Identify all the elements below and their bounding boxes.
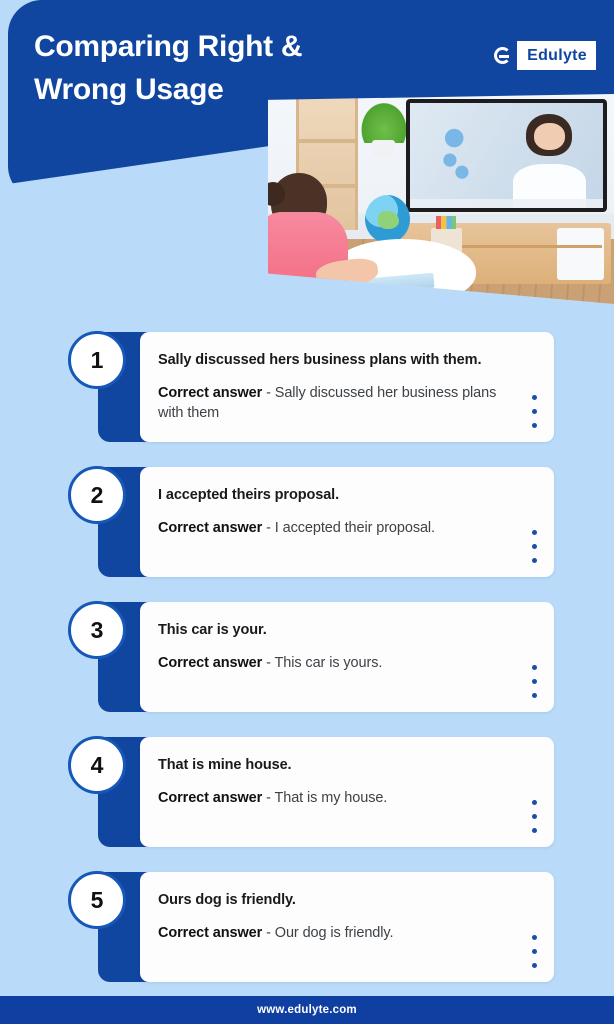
e-logo-glyph xyxy=(494,47,511,64)
dot xyxy=(532,679,537,684)
hero-photo xyxy=(268,86,614,304)
item-card: Sally discussed hers business plans with… xyxy=(140,332,554,442)
answer-label: Correct answer xyxy=(158,520,262,536)
e-logo-icon xyxy=(488,41,517,70)
item-number-badge: 4 xyxy=(68,736,126,794)
page-title: Comparing Right & Wrong Usage xyxy=(34,26,334,111)
dot xyxy=(532,828,537,833)
dot xyxy=(532,530,537,535)
dot xyxy=(532,800,537,805)
item-card: Ours dog is friendly. Correct answer - O… xyxy=(140,872,554,982)
table-leg-left xyxy=(367,298,374,304)
tv-whiteboard xyxy=(437,126,479,181)
dot xyxy=(532,665,537,670)
wrong-sentence: Ours dog is friendly. xyxy=(158,891,510,910)
teacher-face xyxy=(534,123,565,150)
console-door xyxy=(557,228,604,279)
list-item: I accepted theirs proposal. Correct answ… xyxy=(0,460,614,595)
photo-scene xyxy=(268,86,614,304)
correct-sentence: Our dog is friendly. xyxy=(275,925,394,941)
more-options-icon[interactable] xyxy=(532,935,537,968)
dot xyxy=(532,558,537,563)
answer-separator: - xyxy=(262,655,274,671)
answer-separator: - xyxy=(262,925,275,941)
usage-list: Sally discussed hers business plans with… xyxy=(0,325,614,997)
correct-answer: Correct answer - That is my house. xyxy=(158,788,510,809)
wrong-sentence: That is mine house. xyxy=(158,756,510,775)
tv-display xyxy=(406,99,607,212)
wrong-sentence: I accepted theirs proposal. xyxy=(158,486,510,505)
brand-logo[interactable]: Edulyte xyxy=(488,41,596,70)
girl-body xyxy=(268,212,348,304)
more-options-icon[interactable] xyxy=(532,395,537,428)
dot xyxy=(532,935,537,940)
list-item: This car is your. Correct answer - This … xyxy=(0,595,614,730)
list-item: Ours dog is friendly. Correct answer - O… xyxy=(0,865,614,997)
page-title-line1: Comparing Right & xyxy=(34,26,334,69)
answer-label: Correct answer xyxy=(158,655,262,671)
list-item: Sally discussed hers business plans with… xyxy=(0,325,614,460)
dot xyxy=(532,693,537,698)
brand-name: Edulyte xyxy=(517,47,587,65)
wrong-sentence: This car is your. xyxy=(158,621,510,640)
item-number: 1 xyxy=(91,349,104,372)
more-options-icon[interactable] xyxy=(532,800,537,833)
item-number-badge: 2 xyxy=(68,466,126,524)
tv-screen xyxy=(410,103,603,208)
item-number: 4 xyxy=(91,754,104,777)
dot xyxy=(532,963,537,968)
correct-answer: Correct answer - I accepted their propos… xyxy=(158,518,510,539)
plant-icon xyxy=(358,99,410,143)
globe-icon xyxy=(365,195,410,243)
item-card: This car is your. Correct answer - This … xyxy=(140,602,554,712)
item-number-badge: 5 xyxy=(68,871,126,929)
answer-label: Correct answer xyxy=(158,925,262,941)
correct-answer: Correct answer - Sally discussed her bus… xyxy=(158,383,510,424)
wrong-sentence: Sally discussed hers business plans with… xyxy=(158,351,510,370)
item-card: That is mine house. Correct answer - Tha… xyxy=(140,737,554,847)
more-options-icon[interactable] xyxy=(532,665,537,698)
tv-control-bar xyxy=(410,199,603,208)
dot xyxy=(532,409,537,414)
header: Comparing Right & Wrong Usage Edulyte xyxy=(0,0,614,310)
list-item: That is mine house. Correct answer - Tha… xyxy=(0,730,614,865)
answer-separator: - xyxy=(262,385,275,401)
item-number: 3 xyxy=(91,619,104,642)
dot xyxy=(532,395,537,400)
answer-label: Correct answer xyxy=(158,790,262,806)
footer: www.edulyte.com xyxy=(0,996,614,1024)
dot xyxy=(532,544,537,549)
correct-sentence: That is my house. xyxy=(275,790,388,806)
item-number-badge: 1 xyxy=(68,331,126,389)
item-number: 5 xyxy=(91,889,104,912)
correct-sentence: This car is yours. xyxy=(275,655,383,671)
correct-answer: Correct answer - Our dog is friendly. xyxy=(158,923,510,944)
dot xyxy=(532,814,537,819)
footer-website[interactable]: www.edulyte.com xyxy=(257,1004,357,1016)
page-title-line2: Wrong Usage xyxy=(34,69,334,112)
item-number: 2 xyxy=(91,484,104,507)
item-card: I accepted theirs proposal. Correct answ… xyxy=(140,467,554,577)
correct-sentence: I accepted their proposal. xyxy=(275,520,435,536)
correct-answer: Correct answer - This car is yours. xyxy=(158,653,510,674)
answer-separator: - xyxy=(262,520,275,536)
item-number-badge: 3 xyxy=(68,601,126,659)
infographic-page: Comparing Right & Wrong Usage Edulyte Sa… xyxy=(0,0,614,1024)
more-options-icon[interactable] xyxy=(532,530,537,563)
table-leg-right xyxy=(440,298,447,304)
answer-separator: - xyxy=(262,790,274,806)
dot xyxy=(532,423,537,428)
dot xyxy=(532,949,537,954)
answer-label: Correct answer xyxy=(158,385,262,401)
